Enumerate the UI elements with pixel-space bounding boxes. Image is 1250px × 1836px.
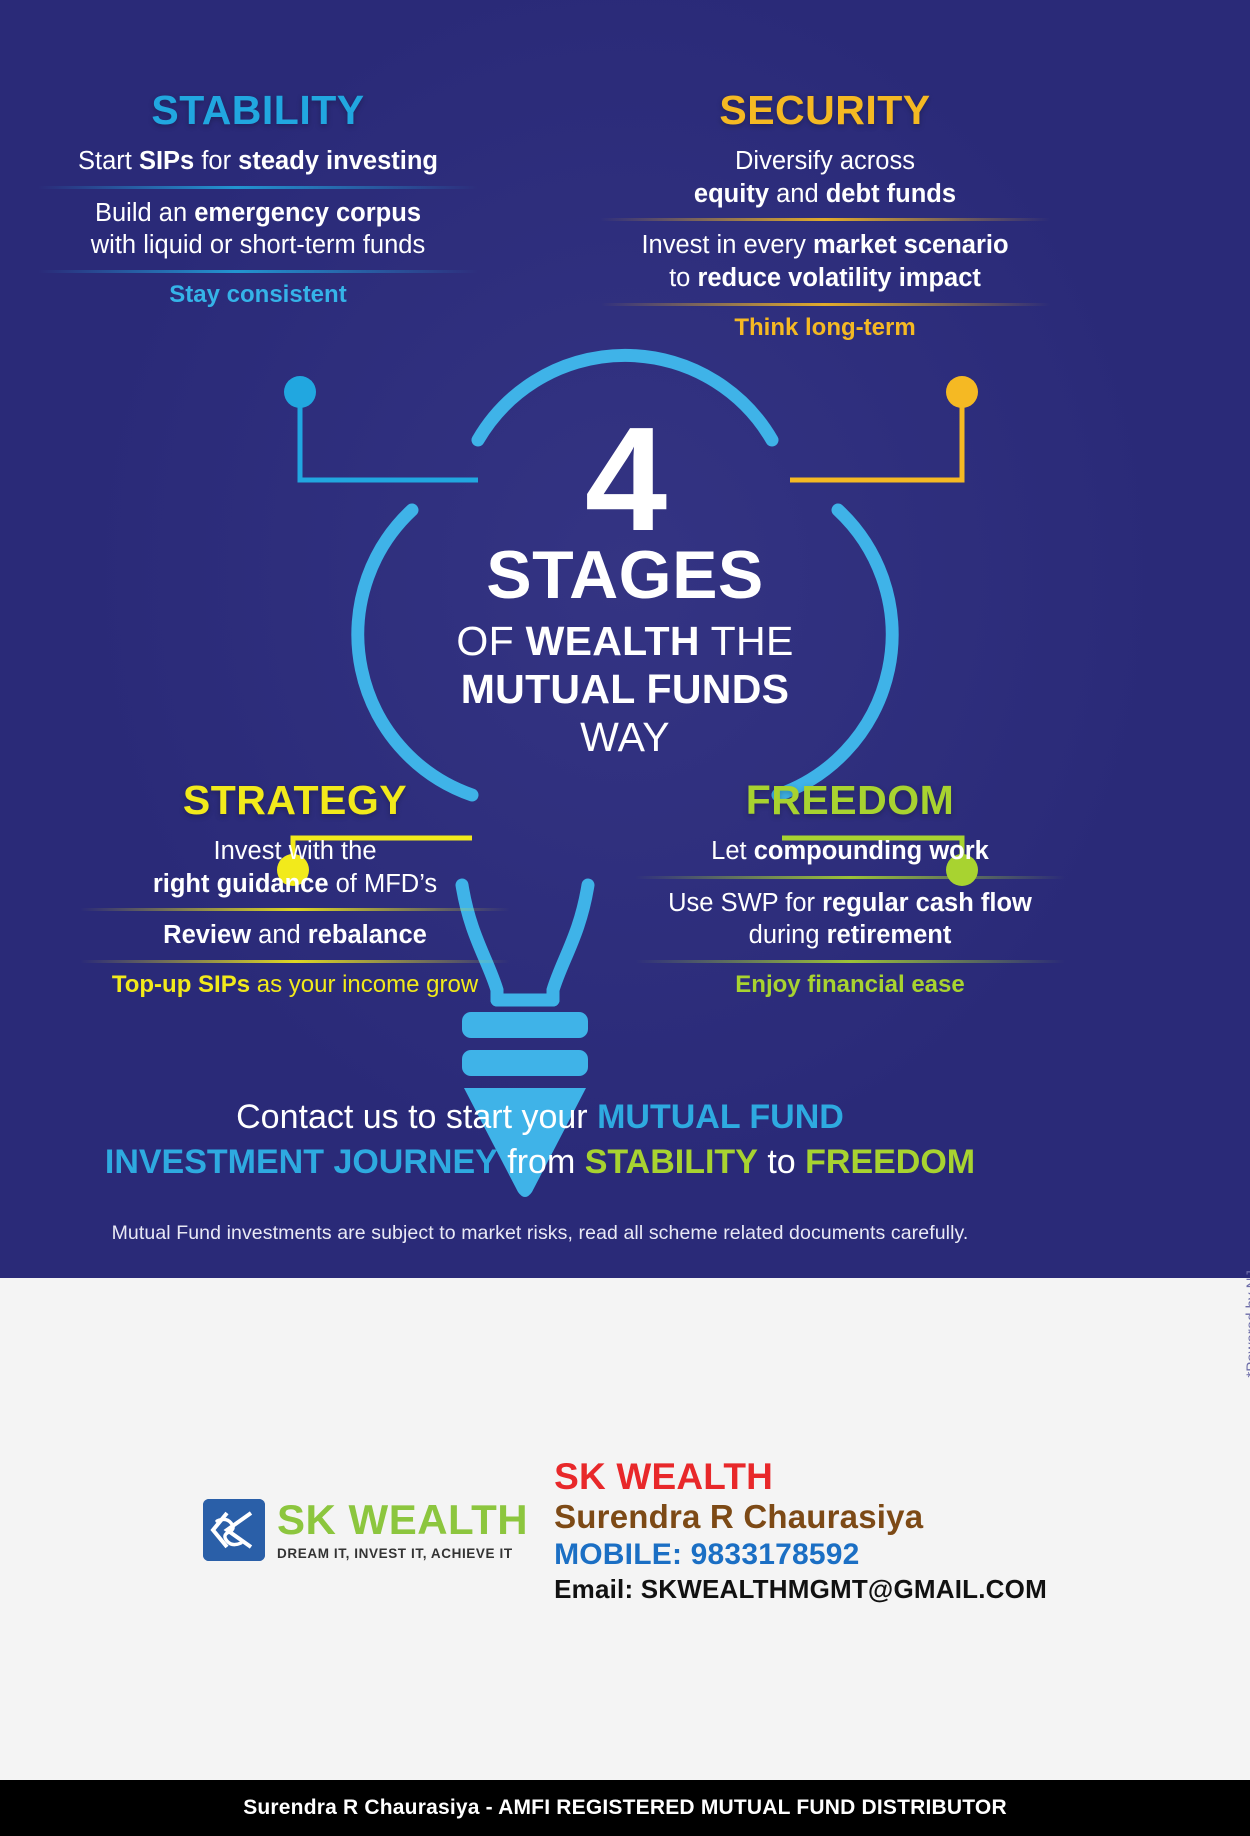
- quadrant-strategy-tagline: Top-up SIPs as your income grow: [80, 971, 510, 999]
- quadrant-freedom-heading: FREEDOM: [635, 780, 1065, 821]
- amfi-disclaimer-bar: Surendra R Chaurasiya - AMFI REGISTERED …: [0, 1780, 1250, 1836]
- contact-email[interactable]: Email: SKWEALTHMGMT@GMAIL.COM: [554, 1575, 1047, 1604]
- s0-l2-post: with liquid or short-term funds: [91, 231, 425, 259]
- s2-l1-pre: Invest with the: [214, 837, 377, 865]
- quadrant-stability-tagline: Stay consistent: [38, 281, 478, 309]
- center-line-4: MUTUAL FUNDS: [325, 665, 925, 713]
- s3-l2-pre: Use SWP for: [668, 889, 822, 917]
- s0-l2-b: emergency corpus: [194, 199, 421, 227]
- contact-mobile[interactable]: MOBILE: 9833178592: [554, 1538, 1047, 1572]
- logo-name: SK WEALTH: [277, 1499, 528, 1541]
- center-line3-pre: OF: [456, 618, 525, 664]
- cta-line2-highlight: INVESTMENT JOURNEY: [105, 1143, 498, 1181]
- s1-l2-post-b: reduce volatility impact: [697, 264, 980, 292]
- s2-l2-b2: rebalance: [308, 921, 427, 949]
- quadrant-strategy-line-2: Review and rebalance: [80, 919, 510, 952]
- logo-wordmark: SK WEALTH DREAM IT, INVEST IT, ACHIEVE I…: [277, 1499, 528, 1561]
- stage-count: 4: [325, 415, 925, 545]
- s0-l1-pre: Start: [78, 147, 139, 175]
- quadrant-stability-divider-2: [38, 270, 478, 273]
- s1-l1-pre: Diversify across: [735, 147, 915, 175]
- bulb-screw-base: [462, 1012, 588, 1076]
- quadrant-strategy-heading: STRATEGY: [80, 780, 510, 821]
- sk-monogram-svg: [203, 1499, 265, 1561]
- s3-l2-post-b: retirement: [827, 921, 952, 949]
- footer-content: SK WEALTH DREAM IT, INVEST IT, ACHIEVE I…: [0, 1310, 1250, 1750]
- s3-l2-post-pre: during: [749, 921, 827, 949]
- powered-by-label: *Powered by NJ: [1244, 1270, 1250, 1378]
- quadrant-strategy: STRATEGY Invest with theright guidance o…: [80, 780, 510, 999]
- quadrant-security-heading: SECURITY: [600, 90, 1050, 131]
- s1-l1-b1: equity: [694, 180, 769, 208]
- s1-l2-post-pre: to: [669, 264, 697, 292]
- quadrant-security-divider-2: [600, 303, 1050, 306]
- quadrant-strategy-line-1: Invest with theright guidance of MFD’s: [80, 835, 510, 900]
- quadrant-strategy-divider-2: [80, 960, 510, 963]
- s2-tag-bold: Top-up SIPs: [112, 971, 250, 998]
- s0-l2-pre: Build an: [95, 199, 194, 227]
- center-title-block: 4 STAGES OF WEALTH THE MUTUAL FUNDS WAY: [325, 415, 925, 762]
- quadrant-security-tagline: Think long-term: [600, 314, 1050, 342]
- quadrant-security-divider-1: [600, 218, 1050, 221]
- s2-l1-mid: of MFD’s: [329, 870, 438, 898]
- logo-tagline: DREAM IT, INVEST IT, ACHIEVE IT: [277, 1546, 528, 1561]
- s2-l2-mid: and: [251, 921, 308, 949]
- cta-text: Contact us to start your MUTUAL FUND INV…: [60, 1095, 1020, 1185]
- quadrant-strategy-divider-1: [80, 908, 510, 911]
- node-dot-security: [946, 376, 978, 408]
- quadrant-stability-divider-1: [38, 186, 478, 189]
- s0-l1-b1: SIPs: [139, 147, 194, 175]
- infographic-poster: 4 STAGES OF WEALTH THE MUTUAL FUNDS WAY …: [0, 0, 1250, 1836]
- quadrant-stability-line-2: Build an emergency corpuswith liquid or …: [38, 197, 478, 262]
- node-dot-stability: [284, 376, 316, 408]
- cta-line2-green1: STABILITY: [585, 1143, 758, 1181]
- quadrant-freedom-line-2: Use SWP for regular cash flowduring reti…: [635, 887, 1065, 952]
- quadrant-freedom-tagline: Enjoy financial ease: [635, 971, 1065, 999]
- quadrant-stability-line-1: Start SIPs for steady investing: [38, 145, 478, 178]
- s1-l2-pre: Invest in every: [641, 231, 813, 259]
- cta-line2-mid: from: [498, 1143, 585, 1181]
- disclaimer-text: Mutual Fund investments are subject to m…: [45, 1222, 1035, 1245]
- quadrant-security-line-1: Diversify acrossequity and debt funds: [600, 145, 1050, 210]
- s2-l2-b1: Review: [163, 921, 251, 949]
- center-line-3: OF WEALTH THE: [325, 617, 925, 665]
- s3-l2-b: regular cash flow: [822, 889, 1032, 917]
- s2-l1-b1: right guidance: [153, 870, 329, 898]
- s3-l1-b1: compounding work: [754, 837, 989, 865]
- cta-line2-green2: FREEDOM: [805, 1143, 975, 1181]
- quadrant-freedom-divider-2: [635, 960, 1065, 963]
- quadrant-freedom-line-1: Let compounding work: [635, 835, 1065, 868]
- stages-word: STAGES: [325, 541, 925, 610]
- quadrant-freedom: FREEDOM Let compounding work Use SWP for…: [635, 780, 1065, 999]
- cta-line1-highlight: MUTUAL FUND: [597, 1098, 844, 1136]
- s0-l1-mid: for: [194, 147, 238, 175]
- quadrant-stability: STABILITY Start SIPs for steady investin…: [38, 90, 478, 309]
- s1-l1-b2: debt funds: [826, 180, 956, 208]
- s0-l1-b2: steady investing: [238, 147, 438, 175]
- quadrant-freedom-divider-1: [635, 876, 1065, 879]
- quadrant-stability-heading: STABILITY: [38, 90, 478, 131]
- cta-line1-pre: Contact us to start your: [236, 1098, 597, 1136]
- s1-l1-mid: and: [769, 180, 826, 208]
- sk-wealth-logo: SK WEALTH DREAM IT, INVEST IT, ACHIEVE I…: [203, 1499, 528, 1561]
- contact-person: Surendra R Chaurasiya: [554, 1499, 1047, 1536]
- cta-line2-to: to: [758, 1143, 805, 1181]
- center-line3-bold: WEALTH: [526, 618, 700, 664]
- contact-company: SK WEALTH: [554, 1456, 1047, 1497]
- s3-l1-pre: Let: [711, 837, 754, 865]
- quadrant-security-line-2: Invest in every market scenarioto reduce…: [600, 229, 1050, 294]
- sk-monogram-icon: [203, 1499, 265, 1561]
- center-line3-post: THE: [700, 618, 794, 664]
- center-line-5: WAY: [325, 713, 925, 761]
- amfi-disclaimer-text: Surendra R Chaurasiya - AMFI REGISTERED …: [243, 1796, 1007, 1820]
- quadrant-security: SECURITY Diversify acrossequity and debt…: [600, 90, 1050, 342]
- s1-l2-b: market scenario: [813, 231, 1009, 259]
- s2-tag-rest: as your income grow: [250, 971, 478, 998]
- contact-details: SK WEALTH Surendra R Chaurasiya MOBILE: …: [554, 1456, 1047, 1604]
